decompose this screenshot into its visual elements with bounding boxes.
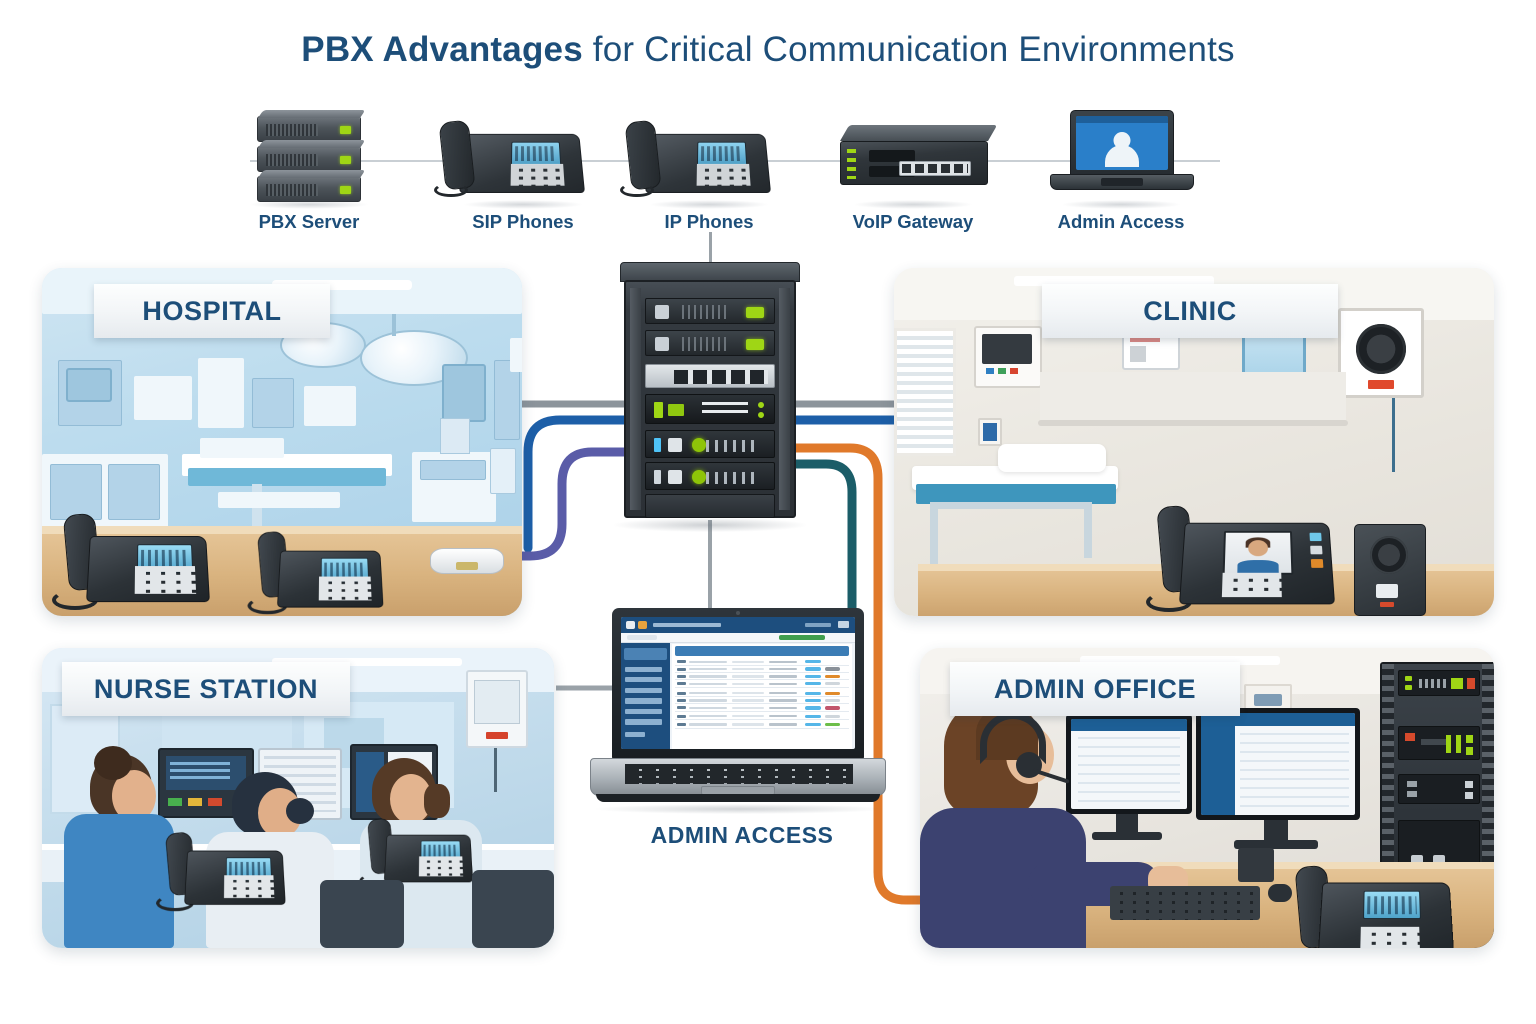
rack-blank-panel — [645, 494, 775, 518]
infographic-canvas: PBX Advantages for Critical Communicatio… — [0, 0, 1536, 1024]
rack-unit-2 — [645, 330, 775, 356]
panel-banner-clinic: CLINIC — [1042, 284, 1338, 338]
panel-nurse-station[interactable]: NURSE STATION — [42, 648, 554, 948]
panel-label: NURSE STATION — [94, 674, 318, 705]
server-stack-icon — [214, 98, 404, 203]
desk-phone-icon — [614, 98, 804, 203]
panel-banner-nurse: NURSE STATION — [62, 662, 350, 716]
top-item-pbx-server[interactable]: PBX Server — [214, 98, 404, 233]
rack-patch-panel — [645, 364, 775, 388]
panel-label: HOSPITAL — [142, 296, 281, 327]
top-item-admin-access[interactable]: Admin Access — [1026, 98, 1216, 233]
top-item-label: Admin Access — [1026, 211, 1216, 233]
clinic-video-phone[interactable] — [1158, 480, 1338, 604]
webcam-icon — [736, 611, 740, 615]
gateway-appliance-icon — [818, 98, 1008, 203]
top-item-label: IP Phones — [614, 211, 804, 233]
admin-monitor-right — [1196, 708, 1360, 820]
top-item-sip-phones[interactable]: SIP Phones — [428, 98, 618, 233]
top-item-label: SIP Phones — [428, 211, 618, 233]
title-light: for Critical Communication Environments — [583, 30, 1235, 69]
page-title: PBX Advantages for Critical Communicatio… — [0, 30, 1536, 70]
top-item-voip-gateway[interactable]: VoIP Gateway — [818, 98, 1008, 233]
hospital-desk-phone-1[interactable] — [64, 490, 224, 602]
panel-banner-hospital: HOSPITAL — [94, 284, 330, 338]
laptop-caption: ADMIN ACCESS — [590, 822, 894, 849]
keyboard[interactable] — [1110, 886, 1260, 920]
hospital-desk-phone-2[interactable] — [258, 518, 387, 607]
top-item-ip-phones[interactable]: IP Phones — [614, 98, 804, 233]
mouse[interactable] — [1268, 884, 1292, 902]
panel-clinic[interactable]: CLINIC — [894, 268, 1494, 616]
central-admin-laptop[interactable]: ADMIN ACCESS — [590, 608, 894, 814]
panel-label: CLINIC — [1143, 296, 1237, 327]
rack-server-1 — [645, 430, 775, 458]
panel-admin-office[interactable]: ADMIN OFFICE — [920, 648, 1494, 948]
central-pbx-rack[interactable] — [620, 262, 800, 520]
panel-hospital[interactable]: HOSPITAL — [42, 268, 522, 616]
top-item-label: PBX Server — [214, 211, 404, 233]
desk-phone-icon — [428, 98, 618, 203]
rack-switch — [645, 394, 775, 424]
video-call-screen — [1223, 531, 1294, 575]
admin-monitor-left — [1066, 714, 1192, 814]
top-item-label: VoIP Gateway — [818, 211, 1008, 233]
title-strong: PBX Advantages — [301, 30, 583, 69]
rack-server-2 — [645, 462, 775, 490]
conference-speaker-puck[interactable] — [430, 548, 504, 574]
admin-dashboard-screen[interactable] — [621, 617, 855, 749]
admin-desk-phone[interactable] — [1296, 844, 1466, 948]
panel-banner-admin: ADMIN OFFICE — [950, 662, 1240, 716]
panel-label: ADMIN OFFICE — [994, 674, 1196, 705]
laptop-keyboard[interactable] — [625, 764, 853, 784]
nurse-desk-phone-1[interactable] — [166, 826, 281, 905]
rack-unit-1 — [645, 298, 775, 324]
laptop-user-icon — [1026, 98, 1216, 203]
nurse-desk-phone-2[interactable] — [368, 816, 462, 882]
